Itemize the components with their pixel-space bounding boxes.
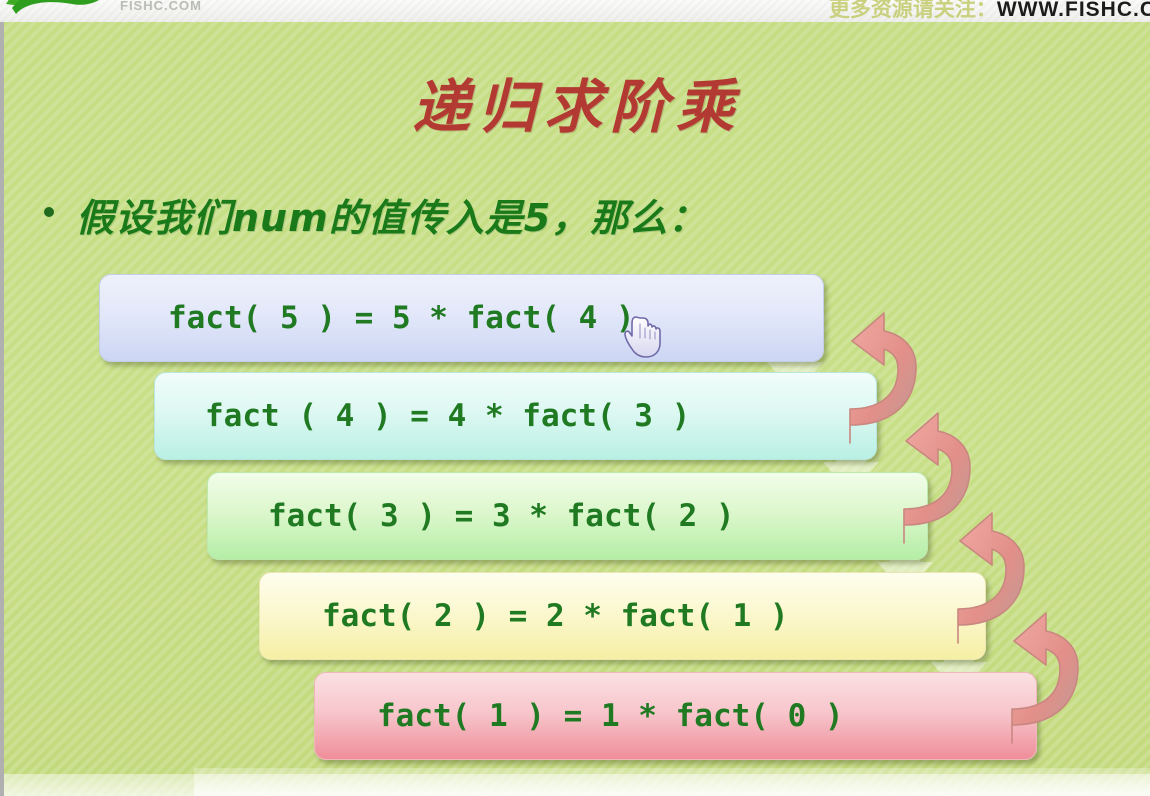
- box-fact-1[interactable]: fact( 1 ) = 1 * fact( 0 ): [314, 672, 1037, 760]
- box-fact-5[interactable]: fact( 5 ) = 5 * fact( 4 ): [99, 274, 824, 362]
- bullet-dot-icon: [44, 207, 54, 217]
- promo-chinese-text: 更多资源请关注：: [829, 0, 997, 21]
- promo-banner: 更多资源请关注：WWW.FISHC.C: [829, 0, 1150, 22]
- bullet-text: 假设我们num的值传入是5，那么：: [76, 187, 707, 242]
- box-fact-3[interactable]: fact( 3 ) = 3 * fact( 2 ): [207, 472, 928, 560]
- logo-wordmark: FISHC.COM: [120, 0, 202, 13]
- slide-bottom-band: [4, 774, 1150, 796]
- box-code-text: fact ( 4 ) = 4 * fact( 3 ): [205, 398, 690, 434]
- slide-frame: 递归求阶乘 假设我们num的值传入是5，那么： fact( 5 ) = 5 * …: [0, 22, 1150, 796]
- slide-screenshot: FISHC.COM 更多资源请关注：WWW.FISHC.C 递归求阶乘 假设我们…: [0, 0, 1150, 796]
- promo-url-text: WWW.FISHC.C: [997, 0, 1150, 21]
- box-fact-4[interactable]: fact ( 4 ) = 4 * fact( 3 ): [154, 372, 877, 460]
- box-fact-2[interactable]: fact( 2 ) = 2 * fact( 1 ): [259, 572, 986, 660]
- box-code-text: fact( 5 ) = 5 * fact( 4 ): [168, 300, 635, 336]
- page-top-band: FISHC.COM 更多资源请关注：WWW.FISHC.C: [0, 0, 1150, 22]
- page-title: 递归求阶乘: [4, 60, 1150, 144]
- box-code-text: fact( 1 ) = 1 * fact( 0 ): [377, 698, 844, 734]
- box-code-text: fact( 2 ) = 2 * fact( 1 ): [322, 598, 789, 634]
- bullet-row: 假设我们num的值传入是5，那么：: [44, 187, 1044, 242]
- box-code-text: fact( 3 ) = 3 * fact( 2 ): [268, 498, 735, 534]
- fishc-fish-logo: [2, 0, 120, 20]
- slide-canvas: 递归求阶乘 假设我们num的值传入是5，那么： fact( 5 ) = 5 * …: [4, 22, 1150, 796]
